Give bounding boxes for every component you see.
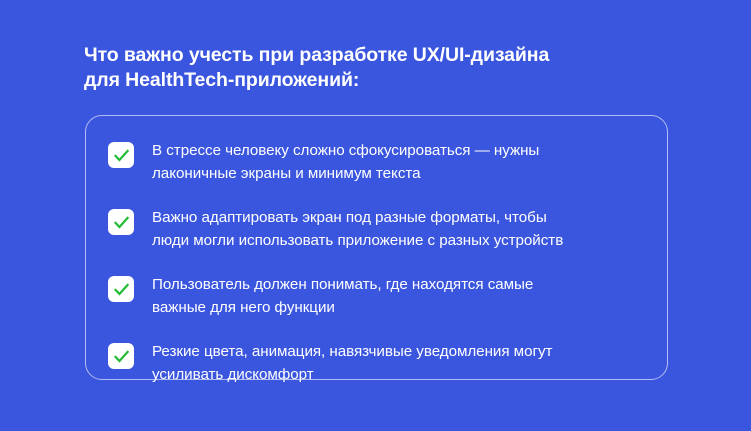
page-title: Что важно учесть при разработке UX/UI-ди…	[84, 43, 684, 92]
list-item-label: Важно адаптировать экран под разные форм…	[152, 206, 563, 252]
list-item[interactable]: В стрессе человеку сложно сфокусироватьс…	[108, 139, 647, 185]
list-item-label: Резкие цвета, анимация, навязчивые уведо…	[152, 340, 552, 386]
list-item-label: В стрессе человеку сложно сфокусироватьс…	[152, 139, 539, 185]
checklist: В стрессе человеку сложно сфокусироватьс…	[86, 116, 667, 379]
check-icon	[113, 281, 130, 298]
checkbox-checked[interactable]	[108, 209, 134, 235]
check-icon	[113, 214, 130, 231]
slide-root: Что важно учесть при разработке UX/UI-ди…	[0, 0, 751, 431]
checkbox-checked[interactable]	[108, 343, 134, 369]
checklist-card: В стрессе человеку сложно сфокусироватьс…	[85, 115, 668, 380]
check-icon	[113, 348, 130, 365]
check-icon	[113, 147, 130, 164]
checkbox-checked[interactable]	[108, 142, 134, 168]
list-item[interactable]: Резкие цвета, анимация, навязчивые уведо…	[108, 340, 647, 386]
checkbox-checked[interactable]	[108, 276, 134, 302]
list-item[interactable]: Пользователь должен понимать, где находя…	[108, 273, 647, 319]
list-item-label: Пользователь должен понимать, где находя…	[152, 273, 533, 319]
list-item[interactable]: Важно адаптировать экран под разные форм…	[108, 206, 647, 252]
